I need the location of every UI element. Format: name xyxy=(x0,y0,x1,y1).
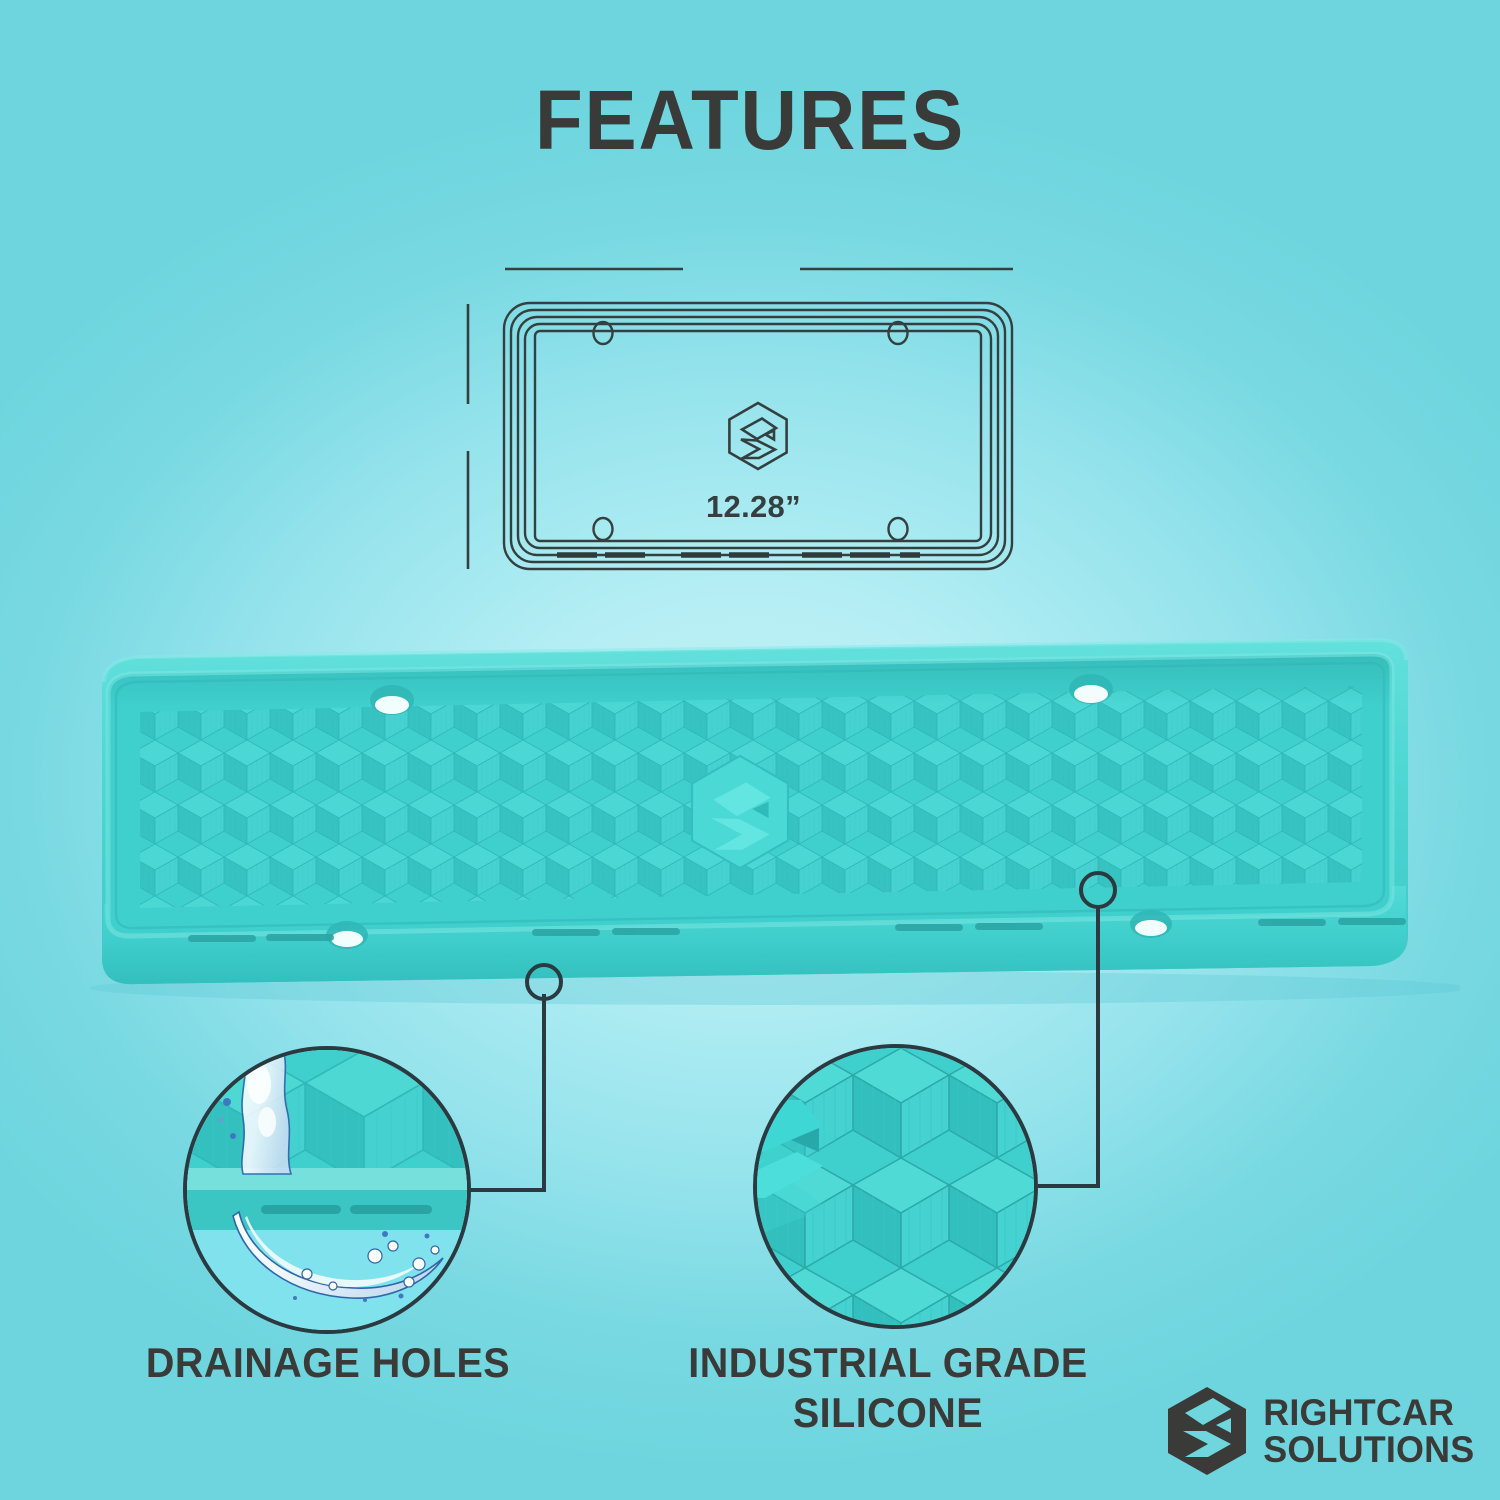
caption-silicone-line1: INDUSTRIAL GRADE xyxy=(674,1338,1103,1388)
dimension-width-label: 12.28” xyxy=(706,489,801,525)
infographic-canvas: FEATURES xyxy=(0,0,1500,1500)
product-render xyxy=(40,636,1460,1008)
caption-silicone: INDUSTRIAL GRADE SILICONE xyxy=(674,1338,1103,1437)
brand-wordmark: RIGHTCAR SOLUTIONS xyxy=(1263,1394,1474,1468)
brand-logo: RIGHTCAR SOLUTIONS xyxy=(1168,1382,1458,1480)
mounting-hole-top-left xyxy=(370,685,414,715)
leader-line-drainage xyxy=(471,994,544,1190)
caption-drainage: DRAINAGE HOLES xyxy=(118,1338,537,1388)
caption-silicone-line2: SILICONE xyxy=(674,1388,1103,1438)
page-title: FEATURES xyxy=(53,78,1448,162)
caption-drainage-line1: DRAINAGE HOLES xyxy=(118,1338,537,1388)
hexagon-s-logo-icon xyxy=(1168,1387,1246,1475)
hexagon-s-logo-icon xyxy=(729,403,786,469)
cube-texture-detail xyxy=(187,1050,471,1172)
mounting-hole-top-right xyxy=(1069,674,1113,704)
brand-line2: SOLUTIONS xyxy=(1263,1431,1474,1468)
callout-silicone-detail xyxy=(753,1044,1038,1329)
brand-line1: RIGHTCAR xyxy=(1263,1394,1474,1431)
frame-outline-rings xyxy=(504,303,1012,569)
mounting-hole-bottom-right xyxy=(1130,910,1172,938)
callout-drainage-detail xyxy=(183,1046,471,1334)
rim-highlight-band xyxy=(187,1168,471,1190)
dimension-diagram: 12.28” 6.3” xyxy=(400,236,1050,596)
